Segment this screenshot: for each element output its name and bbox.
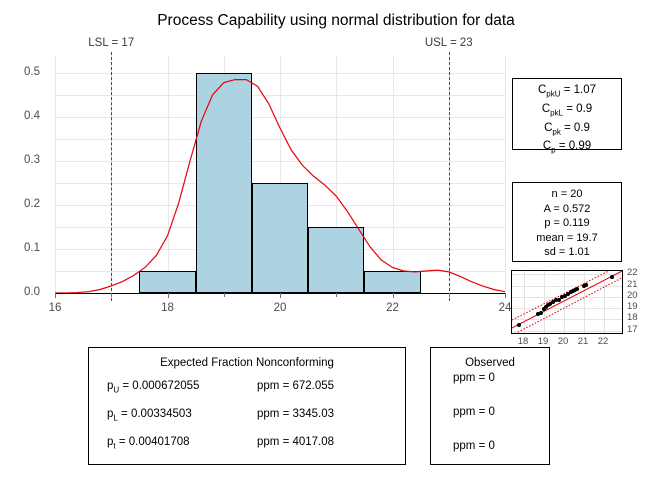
qq-x-tick-label: 21 (572, 336, 594, 347)
qq-plot-panel: 1819202122171819202122 (505, 268, 665, 356)
x-tick-label: 18 (148, 302, 188, 314)
qq-point (539, 311, 543, 315)
qq-x-tick-label: 19 (532, 336, 554, 347)
x-tick-label: 20 (260, 302, 300, 314)
gridline-vertical (393, 55, 394, 293)
y-tick-label: 0.5 (8, 66, 40, 78)
capability-index-pk: Cpk = 0.9 (513, 121, 621, 140)
capability-index-p: Cp = 0.99 (513, 139, 621, 158)
observed-box: Observed ppm = 0ppm = 0ppm = 0 (430, 347, 550, 465)
statistic-sd: sd = 1.01 (513, 245, 621, 260)
capability-index-pkl: CpkL = 0.9 (513, 102, 621, 121)
spec-limit-line-usl (449, 52, 450, 301)
y-tick-label: 0.4 (8, 110, 40, 122)
histogram-bar (308, 227, 364, 293)
qq-confidence-band-lower (512, 278, 622, 334)
statistic-p: p = 0.119 (513, 216, 621, 231)
qq-y-tick-label: 22 (627, 267, 647, 278)
x-tick-mark-minor (224, 293, 225, 297)
capability-indices-box: CpkU = 1.07CpkL = 0.9Cpk = 0.9Cp = 0.99 (512, 78, 622, 150)
statistic-n: n = 20 (513, 187, 621, 202)
x-tick-mark (280, 293, 281, 298)
x-tick-mark-minor (111, 293, 112, 297)
efn-fraction-l: pL = 0.00334503 (107, 408, 192, 422)
histogram-bar (196, 73, 252, 293)
x-tick-label: 22 (373, 302, 413, 314)
y-tick-label: 0.2 (8, 198, 40, 210)
efn-fraction-t: pt = 0.00401708 (107, 436, 190, 450)
observed-ppm-row: ppm = 0 (453, 440, 495, 452)
statistics-list: n = 20A = 0.572p = 0.119mean = 19.7sd = … (513, 183, 621, 260)
qq-x-tick-label: 18 (512, 336, 534, 347)
spec-limit-label-usl: USL = 23 (404, 37, 494, 49)
x-tick-label: 16 (35, 302, 75, 314)
efn-heading: Expected Fraction Nonconforming (89, 357, 405, 369)
qq-x-tick-label: 20 (552, 336, 574, 347)
y-tick-label: 0.1 (8, 242, 40, 254)
gridline-vertical (505, 55, 506, 293)
statistic-mean: mean = 19.7 (513, 231, 621, 246)
x-tick-mark (55, 293, 56, 298)
efn-ppm-l: ppm = 3345.03 (257, 408, 334, 420)
x-tick-mark-minor (336, 293, 337, 297)
histogram-bar (252, 183, 308, 293)
histogram-bar (364, 271, 420, 293)
qq-point (575, 287, 579, 291)
observed-ppm-row: ppm = 0 (453, 406, 495, 418)
qq-point (517, 323, 521, 327)
efn-ppm-t: ppm = 4017.08 (257, 436, 334, 448)
statistics-box: n = 20A = 0.572p = 0.119mean = 19.7sd = … (512, 182, 622, 262)
capability-index-pku: CpkU = 1.07 (513, 83, 621, 102)
efn-ppm-u: ppm = 672.055 (257, 380, 334, 392)
y-tick-label: 0.3 (8, 154, 40, 166)
expected-fraction-nonconforming-box: Expected Fraction Nonconforming pU = 0.0… (88, 347, 406, 465)
x-tick-mark (393, 293, 394, 298)
spec-limit-label-lsl: LSL = 17 (66, 37, 156, 49)
capability-indices-list: CpkU = 1.07CpkL = 0.9Cpk = 0.9Cp = 0.99 (513, 79, 621, 158)
x-tick-mark-minor (449, 293, 450, 297)
gridline-vertical (168, 55, 169, 293)
qq-y-tick-label: 18 (627, 312, 647, 323)
qq-plot-frame (511, 270, 623, 334)
qq-x-tick-label: 22 (592, 336, 614, 347)
spec-limit-line-lsl (111, 52, 112, 301)
histogram-bar (139, 271, 195, 293)
qq-fit-line (512, 271, 623, 334)
observed-ppm-row: ppm = 0 (453, 372, 495, 384)
gridline-vertical (55, 55, 56, 293)
qq-reference-line (512, 271, 622, 328)
observed-heading: Observed (431, 357, 549, 369)
qq-y-tick-label: 17 (627, 324, 647, 335)
qq-y-tick-label: 20 (627, 290, 647, 301)
page-title: Process Capability using normal distribu… (0, 12, 672, 30)
y-tick-label: 0.0 (8, 286, 40, 298)
x-tick-mark (168, 293, 169, 298)
statistic-a: A = 0.572 (513, 202, 621, 217)
histogram-panel: LSL = 17USL = 23 0.00.10.20.30.40.516182… (0, 55, 505, 355)
qq-y-tick-label: 21 (627, 279, 647, 290)
qq-y-tick-label: 19 (627, 301, 647, 312)
efn-fraction-u: pU = 0.000672055 (107, 380, 199, 394)
